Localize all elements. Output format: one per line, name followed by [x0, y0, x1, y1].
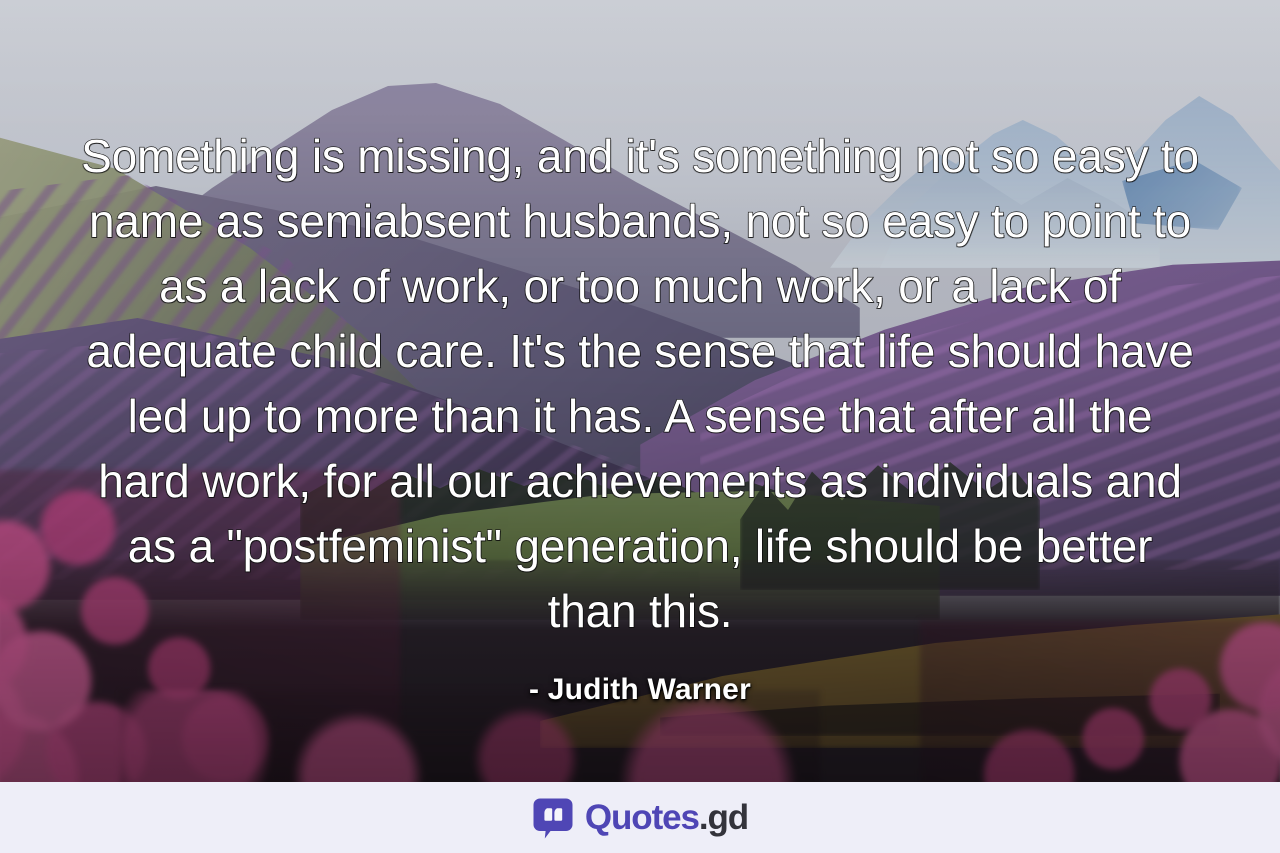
quote-card: Something is missing, and it's something… — [0, 0, 1280, 853]
quote-author: - Judith Warner — [529, 673, 751, 707]
footer-bar: Quotes.gd — [0, 782, 1280, 853]
brand-tld: .gd — [699, 798, 748, 837]
quote-text: Something is missing, and it's something… — [81, 124, 1199, 644]
quote-bubble-icon — [532, 797, 574, 839]
quote-text-layer: Something is missing, and it's something… — [0, 0, 1280, 782]
brand-wordmark: Quotes.gd — [585, 800, 748, 835]
brand-logo-link[interactable]: Quotes.gd — [532, 797, 748, 839]
brand-name: Quotes — [585, 798, 699, 837]
